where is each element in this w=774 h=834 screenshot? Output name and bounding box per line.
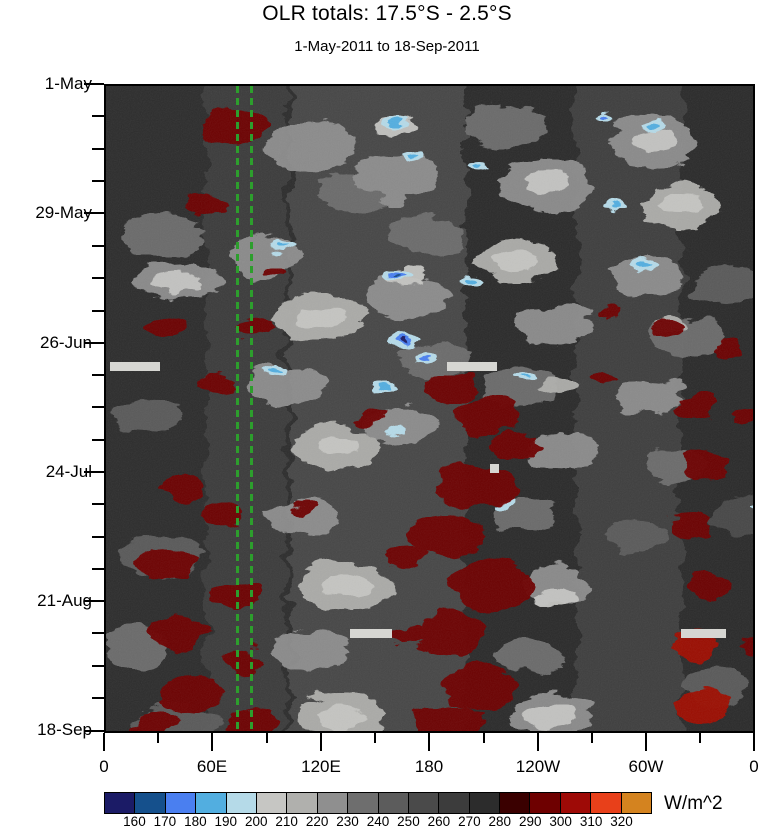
missing-data-bar — [681, 629, 726, 638]
colorbar-swatch-15 — [561, 793, 591, 813]
colorbar-tick-label: 300 — [549, 814, 572, 829]
olr-heatmap-canvas — [106, 86, 755, 733]
colorbar-tick-label: 280 — [489, 814, 512, 829]
colorbar-tick-label: 200 — [245, 814, 268, 829]
y-tick-minor — [92, 503, 104, 505]
y-tick-major — [84, 600, 104, 602]
colorbar-swatch-4 — [227, 793, 257, 813]
y-tick-major — [84, 212, 104, 214]
x-tick-minor — [591, 733, 593, 743]
colorbar-swatch-10 — [409, 793, 439, 813]
y-tick-minor — [92, 568, 104, 570]
colorbar-units-label: W/m^2 — [664, 793, 723, 815]
colorbar[interactable] — [104, 792, 652, 814]
colorbar-tick-label: 230 — [336, 814, 359, 829]
colorbar-swatch-11 — [439, 793, 469, 813]
x-tick-major — [428, 733, 430, 751]
y-tick-minor — [92, 439, 104, 441]
y-tick-label: 21-Aug — [0, 591, 92, 611]
colorbar-tick-label: 310 — [580, 814, 603, 829]
reference-line-left — [236, 86, 239, 733]
x-tick-label: 0 — [724, 757, 774, 777]
colorbar-swatch-13 — [500, 793, 530, 813]
x-tick-major — [211, 733, 213, 751]
colorbar-tick-label: 320 — [610, 814, 633, 829]
x-tick-major — [537, 733, 539, 751]
y-tick-major — [84, 730, 104, 732]
x-tick-minor — [374, 733, 376, 743]
y-tick-minor — [92, 536, 104, 538]
x-tick-minor — [266, 733, 268, 743]
colorbar-tick-label: 190 — [215, 814, 238, 829]
colorbar-tick-label: 250 — [397, 814, 420, 829]
colorbar-swatch-17 — [622, 793, 651, 813]
x-tick-label: 120E — [291, 757, 351, 777]
colorbar-swatch-7 — [318, 793, 348, 813]
x-tick-major — [753, 733, 755, 751]
y-tick-minor — [92, 310, 104, 312]
x-tick-major — [645, 733, 647, 751]
colorbar-tick-label: 240 — [367, 814, 390, 829]
hovmoller-plot[interactable] — [104, 84, 755, 733]
x-tick-label: 180 — [399, 757, 459, 777]
colorbar-swatch-5 — [257, 793, 287, 813]
colorbar-swatch-12 — [470, 793, 500, 813]
x-tick-label: 60E — [182, 757, 242, 777]
colorbar-tick-label: 220 — [306, 814, 329, 829]
y-tick-major — [84, 471, 104, 473]
y-tick-label: 18-Sep — [0, 720, 92, 740]
x-tick-label: 0 — [74, 757, 134, 777]
y-tick-minor — [92, 697, 104, 699]
y-tick-minor — [92, 277, 104, 279]
page-title: OLR totals: 17.5°S - 2.5°S — [0, 2, 774, 26]
missing-data-bar — [490, 464, 499, 473]
x-tick-major — [320, 733, 322, 751]
y-tick-minor — [92, 115, 104, 117]
y-tick-label: 1-May — [0, 74, 92, 94]
colorbar-swatch-14 — [530, 793, 560, 813]
colorbar-tick-label: 270 — [458, 814, 481, 829]
colorbar-swatch-9 — [379, 793, 409, 813]
colorbar-swatch-0 — [105, 793, 135, 813]
colorbar-swatch-8 — [348, 793, 378, 813]
y-tick-major — [84, 342, 104, 344]
x-tick-minor — [483, 733, 485, 743]
y-tick-minor — [92, 406, 104, 408]
colorbar-swatch-2 — [166, 793, 196, 813]
y-tick-minor — [92, 180, 104, 182]
y-tick-minor — [92, 148, 104, 150]
missing-data-bar — [447, 362, 497, 371]
y-tick-label: 29-May — [0, 203, 92, 223]
colorbar-tick-label: 180 — [184, 814, 207, 829]
colorbar-swatch-6 — [287, 793, 317, 813]
y-tick-minor — [92, 665, 104, 667]
colorbar-tick-label: 260 — [428, 814, 451, 829]
colorbar-swatch-16 — [591, 793, 621, 813]
page-subtitle: 1-May-2011 to 18-Sep-2011 — [0, 38, 774, 55]
x-tick-label: 120W — [508, 757, 568, 777]
y-tick-minor — [92, 374, 104, 376]
colorbar-swatch-3 — [196, 793, 226, 813]
y-tick-minor — [92, 632, 104, 634]
colorbar-tick-label: 290 — [519, 814, 542, 829]
reference-line-right — [250, 86, 253, 733]
x-tick-label: 60W — [616, 757, 676, 777]
colorbar-swatch-1 — [135, 793, 165, 813]
y-tick-label: 26-Jun — [0, 333, 92, 353]
colorbar-tick-label: 160 — [123, 814, 146, 829]
x-tick-minor — [699, 733, 701, 743]
x-tick-minor — [157, 733, 159, 743]
missing-data-bar — [110, 362, 160, 371]
y-tick-minor — [92, 245, 104, 247]
colorbar-tick-label: 210 — [275, 814, 298, 829]
missing-data-bar — [350, 629, 392, 638]
x-tick-major — [103, 733, 105, 751]
colorbar-tick-label: 170 — [154, 814, 177, 829]
y-tick-major — [84, 83, 104, 85]
y-tick-label: 24-Jul — [0, 462, 92, 482]
colorbar-tick-labels: 1601701801902002102202302402502602702802… — [104, 814, 652, 834]
